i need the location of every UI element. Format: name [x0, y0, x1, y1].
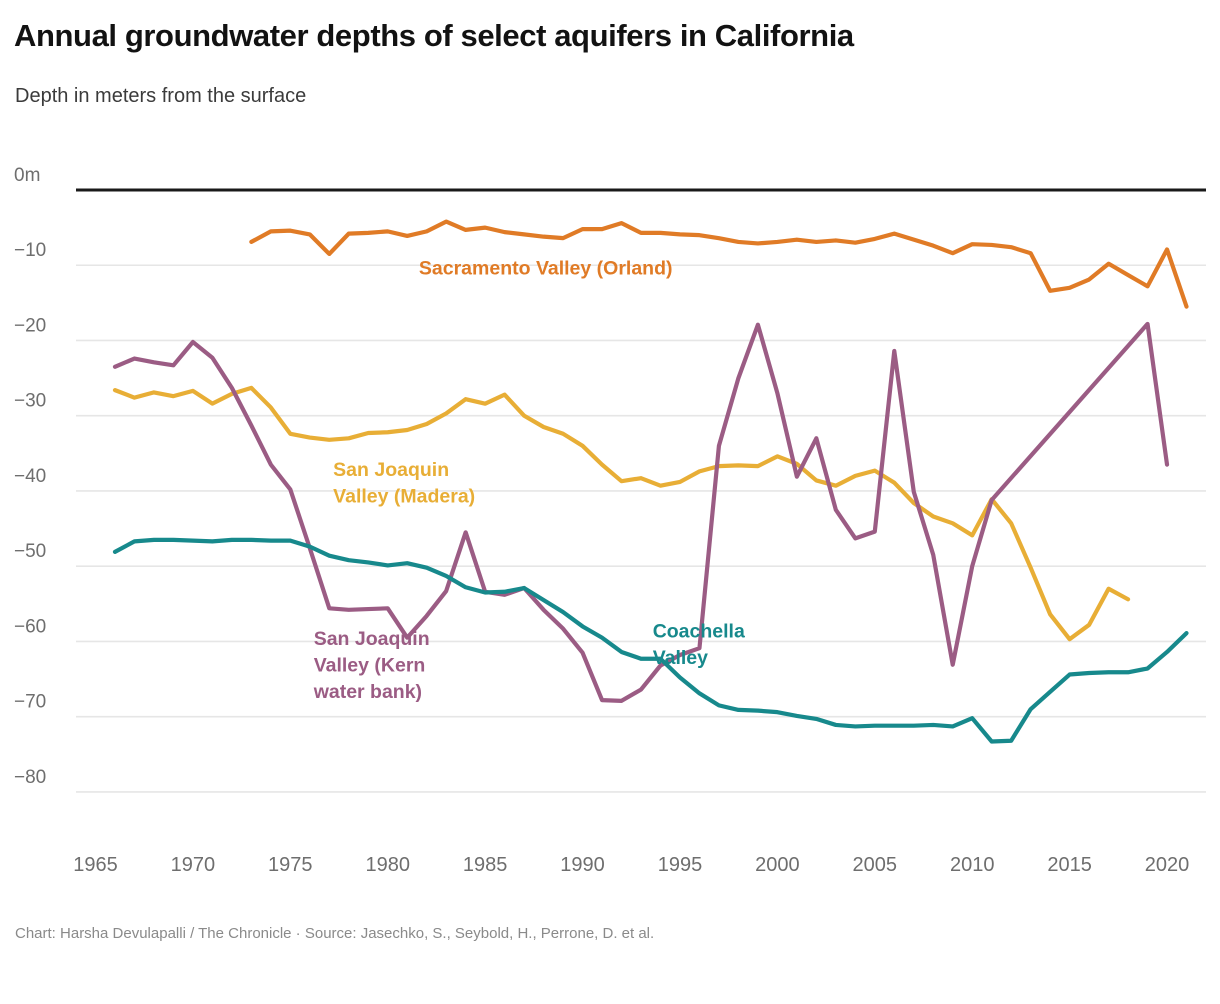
- chart-page: Annual groundwater depths of select aqui…: [0, 0, 1220, 1004]
- x-axis-tick-label: 1995: [658, 854, 703, 876]
- x-axis-tick-label: 1980: [365, 854, 410, 876]
- series-label-sacramento-valley-orland: Sacramento Valley (Orland): [419, 257, 673, 279]
- series-label-san-joaquin-valley-kern-water-bank: Valley (Kern: [314, 655, 426, 677]
- series-label-san-joaquin-valley-kern-water-bank: water bank): [313, 681, 422, 703]
- x-axis-tick-label: 1985: [463, 854, 508, 876]
- chart-plot-area: 0m−10−20−30−40−50−60−70−8019651970197519…: [0, 150, 1220, 910]
- series-label-san-joaquin-valley-madera: San Joaquin: [333, 459, 449, 481]
- chart-credit: Chart: Harsha Devulapalli / The Chronicl…: [15, 925, 654, 942]
- x-axis-tick-label: 2015: [1047, 854, 1092, 876]
- x-axis-tick-label: 1970: [171, 854, 216, 876]
- series-line-sacramento-valley-orland: [251, 222, 1186, 307]
- y-axis-tick-label: 0m: [14, 165, 40, 186]
- x-axis-tick-label: 1990: [560, 854, 605, 876]
- line-chart: 0m−10−20−30−40−50−60−70−8019651970197519…: [0, 150, 1220, 910]
- x-axis-tick-label: 2005: [853, 854, 898, 876]
- series-label-coachella-valley: Coachella: [653, 621, 745, 643]
- series-label-san-joaquin-valley-madera: Valley (Madera): [333, 485, 475, 507]
- series-label-san-joaquin-valley-kern-water-bank: San Joaquin: [314, 628, 430, 650]
- y-axis-tick-label: −50: [14, 541, 46, 562]
- y-axis-tick-label: −80: [14, 767, 46, 788]
- y-axis-tick-label: −40: [14, 466, 46, 487]
- series-line-san-joaquin-valley-kern-water-bank: [115, 324, 1167, 701]
- series-label-coachella-valley: Valley: [653, 647, 708, 669]
- x-axis-tick-label: 2000: [755, 854, 800, 876]
- series-line-san-joaquin-valley-madera: [115, 388, 1128, 639]
- y-axis-tick-label: −70: [14, 692, 46, 713]
- y-axis-tick-label: −10: [14, 240, 46, 261]
- y-axis-tick-label: −30: [14, 391, 46, 412]
- x-axis-tick-label: 1965: [73, 854, 118, 876]
- x-axis-tick-label: 2010: [950, 854, 995, 876]
- chart-subtitle: Depth in meters from the surface: [15, 85, 306, 108]
- y-axis-tick-label: −20: [14, 315, 46, 336]
- x-axis-tick-label: 1975: [268, 854, 313, 876]
- x-axis-tick-label: 2020: [1145, 854, 1190, 876]
- page-title: Annual groundwater depths of select aqui…: [14, 18, 854, 54]
- y-axis-tick-label: −60: [14, 616, 46, 637]
